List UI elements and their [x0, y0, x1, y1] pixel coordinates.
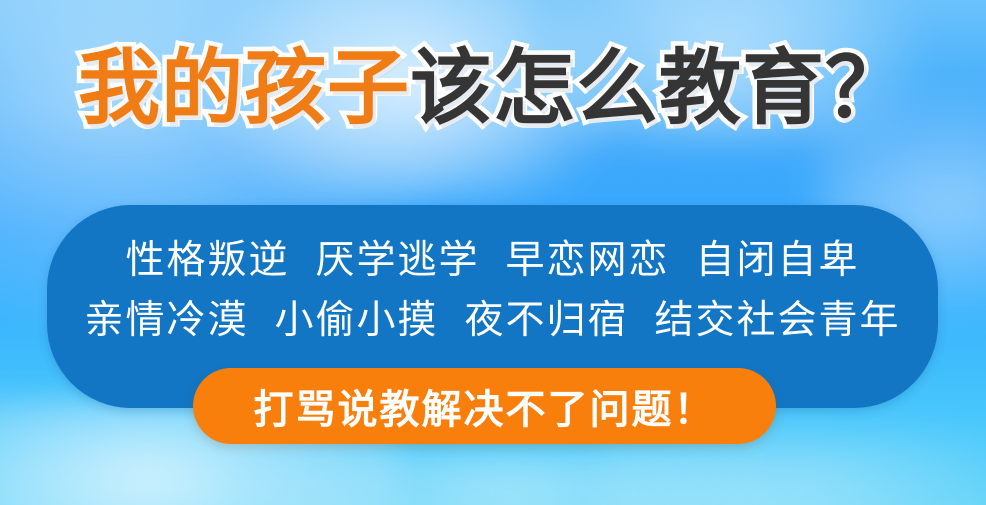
issue-item: 厌学逃学 [315, 238, 479, 283]
page-title-highlight: 我的孩子 [78, 41, 410, 136]
issues-list: 性格叛逆厌学逃学早恋网恋自闭自卑 亲情冷漠小偷小摸夜不归宿结交社会青年 [47, 231, 938, 351]
cta-button[interactable]: 打骂说教解决不了问题！ [193, 368, 776, 444]
issue-item: 自闭自卑 [696, 238, 860, 283]
page-title: 我的孩子该怎么教育？ [0, 46, 986, 133]
issue-item: 亲情冷漠 [84, 298, 248, 343]
poster-canvas: 我的孩子该怎么教育？ 性格叛逆厌学逃学早恋网恋自闭自卑 亲情冷漠小偷小摸夜不归宿… [0, 0, 986, 505]
page-title-question: 该怎么教育？ [410, 41, 908, 136]
issue-item: 早恋网恋 [506, 238, 670, 283]
issue-item: 小偷小摸 [274, 298, 438, 343]
issues-row: 亲情冷漠小偷小摸夜不归宿结交社会青年 [47, 291, 938, 351]
issue-item: 性格叛逆 [125, 238, 289, 283]
issue-item: 结交社会青年 [655, 298, 901, 343]
issue-item: 夜不归宿 [465, 298, 629, 343]
issues-row: 性格叛逆厌学逃学早恋网恋自闭自卑 [47, 231, 938, 291]
cta-button-label: 打骂说教解决不了问题！ [254, 377, 716, 435]
